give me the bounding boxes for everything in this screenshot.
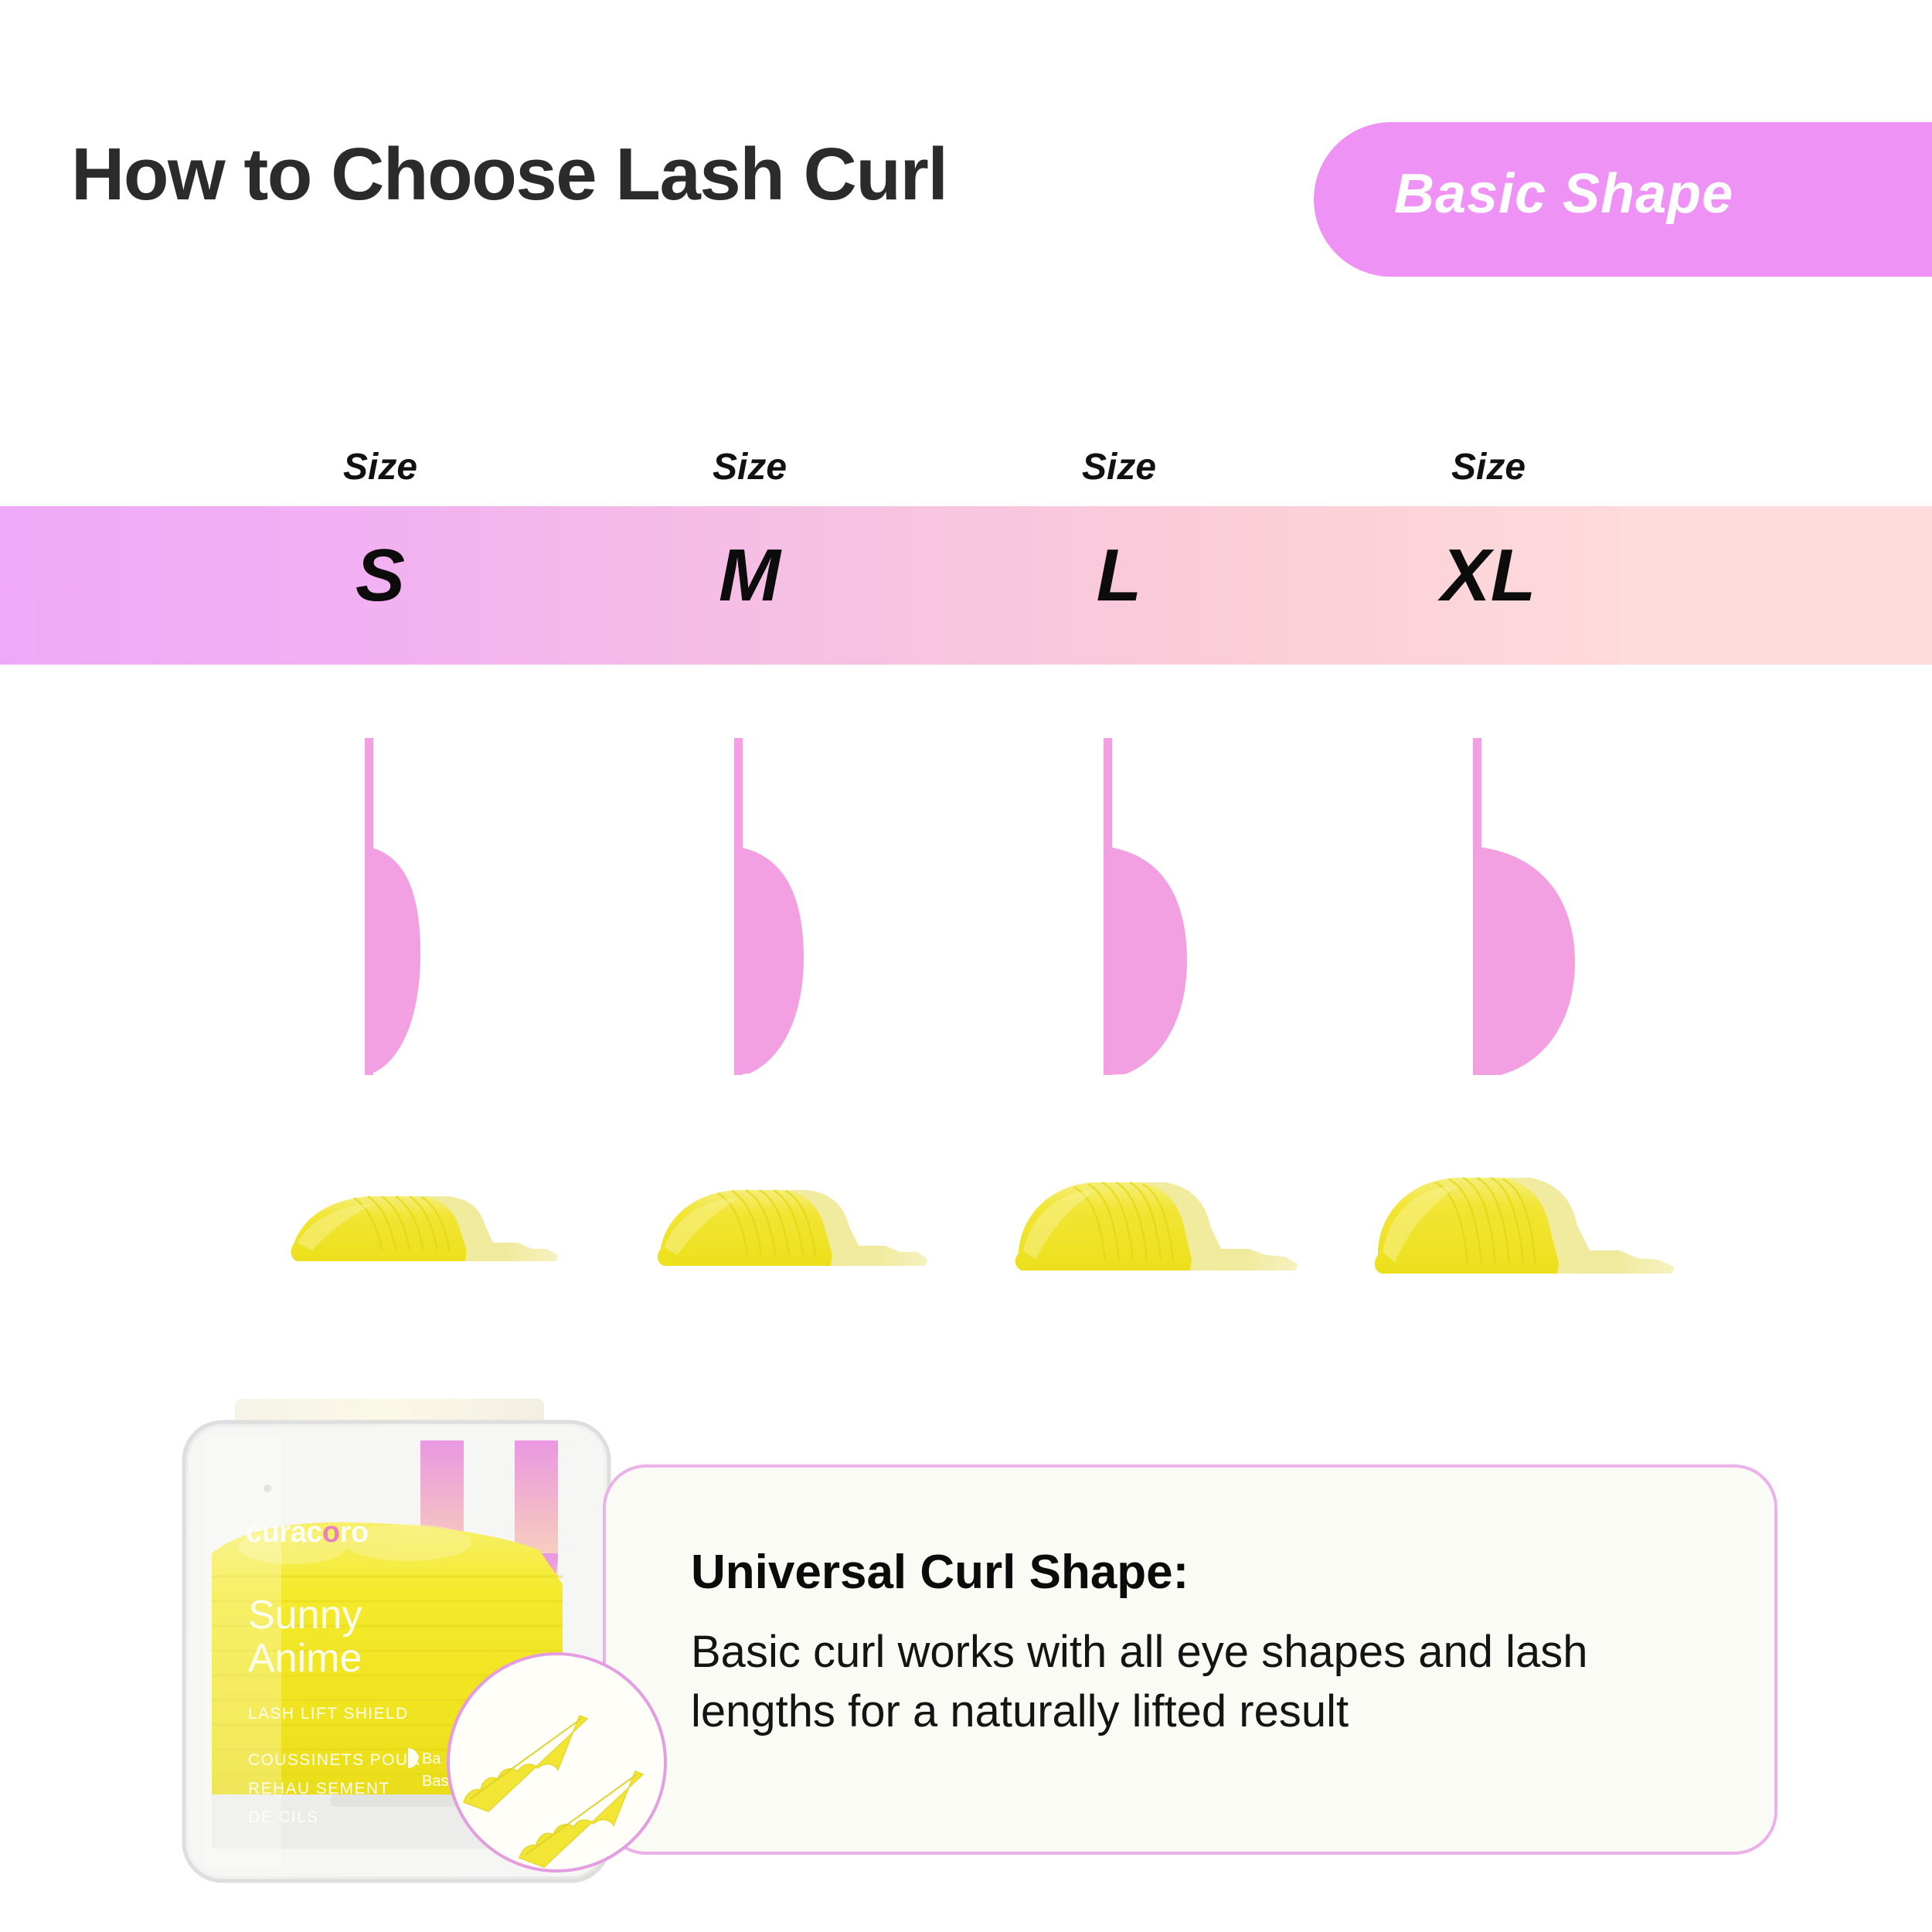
box-description-fr-line1: COUSSINETS POUR bbox=[248, 1747, 421, 1775]
size-letter-s: S bbox=[249, 533, 512, 618]
infographic-page: How to Choose Lash Curl Basic Shape Size… bbox=[0, 0, 1932, 1932]
description-body: Basic curl works with all eye shapes and… bbox=[691, 1622, 1726, 1741]
size-caption-m: Size bbox=[618, 446, 881, 488]
curl-shape-xl bbox=[1357, 738, 1620, 1078]
box-description-fr-line3: DE CILS bbox=[248, 1804, 421, 1832]
box-description-en: LASH LIFT SHIELD bbox=[248, 1705, 409, 1723]
box-curl-tag: Ba Bas bbox=[422, 1748, 448, 1793]
shield-photo-l bbox=[1012, 1151, 1352, 1329]
description-title: Universal Curl Shape: bbox=[691, 1545, 1189, 1600]
shield-photo-xl bbox=[1372, 1151, 1735, 1329]
brand-text-o: o bbox=[322, 1516, 340, 1549]
description-card: Universal Curl Shape: Basic curl works w… bbox=[603, 1464, 1777, 1855]
box-curl-tag-line1: Ba bbox=[422, 1748, 448, 1770]
box-product-name-line1: Sunny bbox=[248, 1594, 362, 1638]
box-product-name-line2: Anime bbox=[248, 1638, 362, 1681]
box-description-fr-line2: REHAU SEMENT bbox=[248, 1775, 421, 1804]
curl-shape-m bbox=[618, 738, 881, 1078]
basic-shape-badge: Basic Shape bbox=[1314, 122, 1932, 277]
box-curl-tag-line2: Bas bbox=[422, 1770, 448, 1793]
size-letter-l: L bbox=[988, 533, 1250, 618]
size-letter-xl: XL bbox=[1357, 533, 1620, 618]
curl-shape-s bbox=[249, 738, 512, 1078]
curl-shape-row bbox=[0, 738, 1932, 1078]
size-letter-m: M bbox=[618, 533, 881, 618]
curl-shape-l bbox=[988, 738, 1250, 1078]
size-caption-xl: Size bbox=[1357, 446, 1620, 488]
header: How to Choose Lash Curl Basic Shape bbox=[0, 0, 1932, 278]
shield-photo-row bbox=[0, 1151, 1932, 1329]
size-caption-s: Size bbox=[249, 446, 512, 488]
box-product-name: Sunny Anime bbox=[248, 1594, 362, 1680]
brand-text-pre: curac bbox=[246, 1516, 322, 1549]
box-description-fr: COUSSINETS POUR REHAU SEMENT DE CILS bbox=[248, 1747, 421, 1832]
box-brand-logo: curacoro bbox=[246, 1516, 369, 1549]
size-caption-l: Size bbox=[988, 446, 1250, 488]
shield-photo-s bbox=[286, 1151, 611, 1329]
shield-photo-m bbox=[653, 1151, 978, 1329]
basic-shape-badge-label: Basic Shape bbox=[1394, 162, 1733, 226]
curl-shape-inset-badge bbox=[447, 1652, 667, 1872]
page-title: How to Choose Lash Curl bbox=[71, 138, 947, 212]
brand-text-post: ro bbox=[340, 1516, 369, 1549]
